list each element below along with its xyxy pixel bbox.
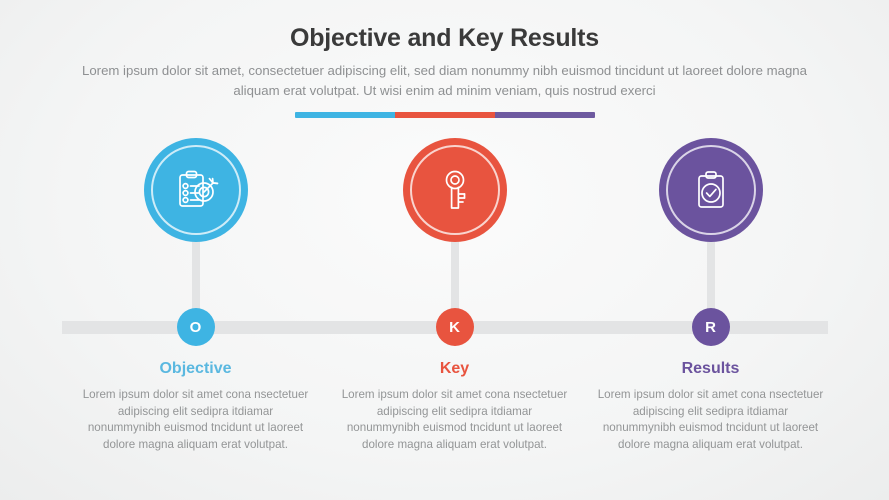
column-description-key: Lorem ipsum dolor sit amet cona nsectetu… xyxy=(339,387,570,453)
icon-circle-results[interactable] xyxy=(659,138,763,242)
accent-segment-blue xyxy=(295,112,395,118)
diagram-column-key[interactable]: K Key Lorem ipsum dolor sit amet cona ns… xyxy=(327,132,582,500)
okr-diagram: O Objective Lorem ipsum dolor sit amet c… xyxy=(0,132,889,500)
accent-segment-red xyxy=(395,112,495,118)
page-subtitle: Lorem ipsum dolor sit amet, consectetuer… xyxy=(65,61,825,101)
key-icon xyxy=(430,165,480,215)
column-description-objective: Lorem ipsum dolor sit amet cona nsectetu… xyxy=(80,387,311,453)
accent-divider xyxy=(295,112,595,118)
badge-results[interactable]: R xyxy=(692,308,730,346)
badge-key[interactable]: K xyxy=(436,308,474,346)
badge-objective[interactable]: O xyxy=(177,308,215,346)
icon-circle-objective[interactable] xyxy=(144,138,248,242)
clipboard-target-icon xyxy=(171,165,221,215)
header: Objective and Key Results Lorem ipsum do… xyxy=(0,0,889,118)
clipboard-check-icon xyxy=(686,165,736,215)
icon-circle-key[interactable] xyxy=(403,138,507,242)
column-title-key: Key xyxy=(327,360,582,378)
column-title-results: Results xyxy=(583,360,838,378)
diagram-column-results[interactable]: R Results Lorem ipsum dolor sit amet con… xyxy=(583,132,838,500)
diagram-column-objective[interactable]: O Objective Lorem ipsum dolor sit amet c… xyxy=(68,132,323,500)
accent-segment-purple xyxy=(495,112,595,118)
column-title-objective: Objective xyxy=(68,360,323,378)
page-title: Objective and Key Results xyxy=(0,22,889,54)
column-description-results: Lorem ipsum dolor sit amet cona nsectetu… xyxy=(595,387,826,453)
